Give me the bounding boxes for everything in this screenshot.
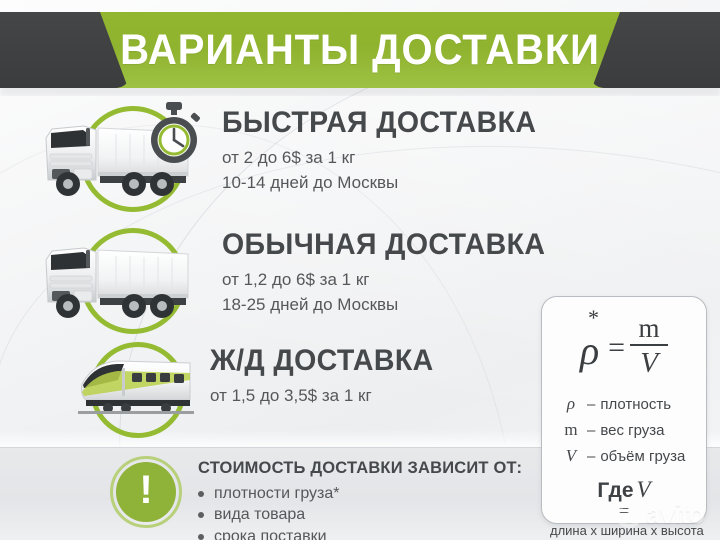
page-title: ВАРИАНТЫ ДОСТАВКИ [81, 12, 639, 88]
legend-row-volume: V – объём груза [560, 443, 698, 469]
legend-row-mass: m – вес груза [560, 417, 698, 443]
cost-note-title: СТОИМОСТЬ ДОСТАВКИ ЗАВИСИТ ОТ: [198, 458, 522, 478]
delivery-option-standard-text: ОБЫЧНАЯ ДОСТАВКА от 1,2 до 6$ за 1 кг 18… [222, 222, 562, 317]
where-label: Где [597, 479, 633, 502]
legend-text: вес груза [600, 420, 664, 443]
delivery-option-standard: ОБЫЧНАЯ ДОСТАВКА от 1,2 до 6$ за 1 кг 18… [38, 222, 562, 334]
option-price: от 1,5 до 3,5$ за 1 кг [210, 384, 445, 408]
delivery-option-rail-text: Ж/Д ДОСТАВКА от 1,5 до 3,5$ за 1 кг [210, 338, 445, 408]
truck-illustration [38, 236, 206, 322]
volume-definition: ГдеV = длина х ширина х высота [550, 477, 698, 537]
list-item: вида товара [198, 504, 532, 525]
exclamation-icon: ! [110, 456, 182, 528]
where-equals-sign: = [550, 505, 698, 518]
density-formula-card: * ρ = m V ρ – плотность m – вес груза V [541, 296, 707, 524]
legend-symbol-v: V [560, 443, 582, 469]
train-icon [78, 338, 198, 436]
formula-denominator: V [640, 348, 658, 378]
density-formula: * ρ = m V [550, 303, 698, 389]
formula-rho-symbol: ρ [580, 327, 599, 374]
cost-factor-list: плотности груза* вида товара срока поста… [198, 483, 532, 540]
truck-icon [38, 222, 210, 334]
option-duration: 18-25 дней до Москвы [222, 293, 562, 317]
legend-text: объём груза [600, 446, 685, 469]
formula-equals-sign: = [608, 331, 625, 365]
formula-fraction-bar [630, 344, 668, 346]
exclamation-circle: ! [116, 462, 176, 522]
option-duration: 10-14 дней до Москвы [222, 171, 553, 195]
cost-note-body: СТОИМОСТЬ ДОСТАВКИ ЗАВИСИТ ОТ: плотности… [198, 452, 532, 540]
option-price: от 1,2 до 6$ за 1 кг [222, 268, 562, 292]
option-price: от 2 до 6$ за 1 кг [222, 146, 553, 170]
where-symbol-v: V [637, 477, 651, 502]
stopwatch-icon [142, 100, 206, 166]
legend-text: плотность [600, 394, 671, 417]
exclamation-mark: ! [139, 470, 152, 510]
volume-definition-head: ГдеV [550, 477, 698, 503]
train-illustration [78, 354, 194, 416]
legend-dash: – [587, 420, 595, 443]
delivery-options-poster: ВАРИАНТЫ ДОСТАВКИ [0, 0, 720, 540]
formula-legend: ρ – плотность m – вес груза V – объём гр… [550, 391, 698, 468]
legend-symbol-rho: ρ [560, 391, 582, 417]
formula-fraction: m V [630, 314, 668, 379]
delivery-option-fast: БЫСТРАЯ ДОСТАВКА от 2 до 6$ за 1 кг 10-1… [38, 100, 553, 212]
legend-dash: – [587, 394, 595, 417]
where-formula-text: длина х ширина х высота [550, 523, 698, 538]
truck-with-stopwatch-icon [38, 100, 210, 212]
legend-dash: – [587, 446, 595, 469]
option-title: ОБЫЧНАЯ ДОСТАВКА [222, 230, 545, 260]
header-banner: ВАРИАНТЫ ДОСТАВКИ [0, 12, 720, 92]
formula-numerator: m [639, 314, 660, 342]
delivery-option-rail: Ж/Д ДОСТАВКА от 1,5 до 3,5$ за 1 кг [78, 338, 445, 436]
legend-symbol-m: m [560, 417, 582, 443]
delivery-option-fast-text: БЫСТРАЯ ДОСТАВКА от 2 до 6$ за 1 кг 10-1… [222, 100, 553, 195]
list-item: срока поставки [198, 526, 532, 540]
cost-note: ! СТОИМОСТЬ ДОСТАВКИ ЗАВИСИТ ОТ: плотнос… [110, 452, 532, 540]
option-title: Ж/Д ДОСТАВКА [210, 346, 434, 376]
list-item: плотности груза* [198, 483, 532, 504]
legend-row-density: ρ – плотность [560, 391, 698, 417]
option-title: БЫСТРАЯ ДОСТАВКА [222, 108, 536, 138]
